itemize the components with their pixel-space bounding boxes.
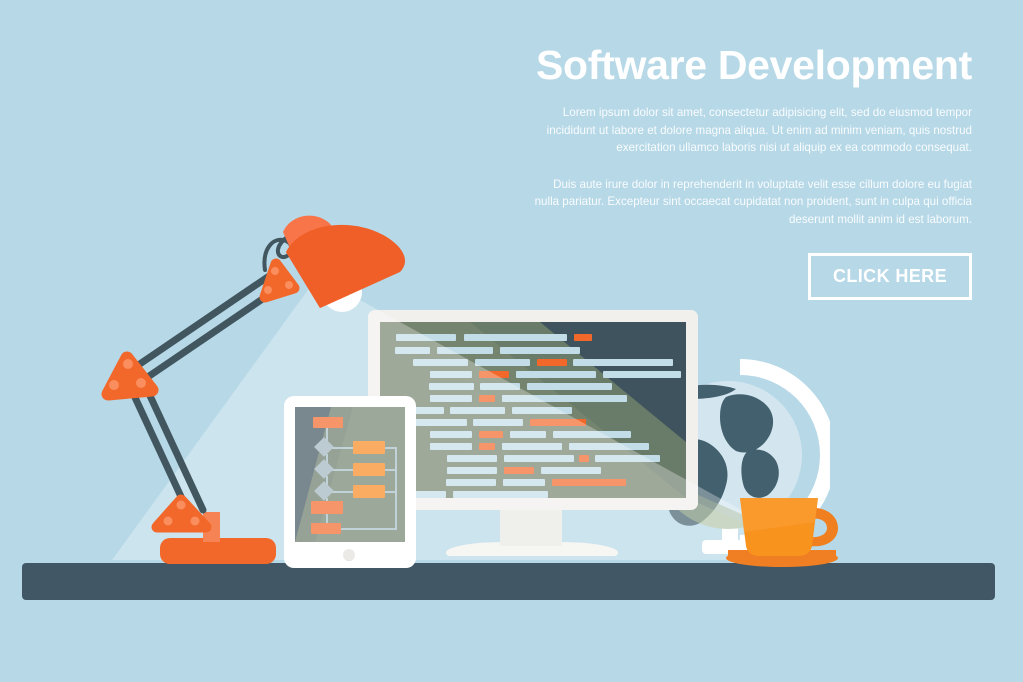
illustration-canvas: Software Development Lorem ipsum dolor s… [0,0,1023,682]
coffee-cup [722,484,852,569]
lamp-upper-arm [128,270,286,385]
lamp-head-joint [264,264,294,297]
desk-lamp [0,0,1023,682]
